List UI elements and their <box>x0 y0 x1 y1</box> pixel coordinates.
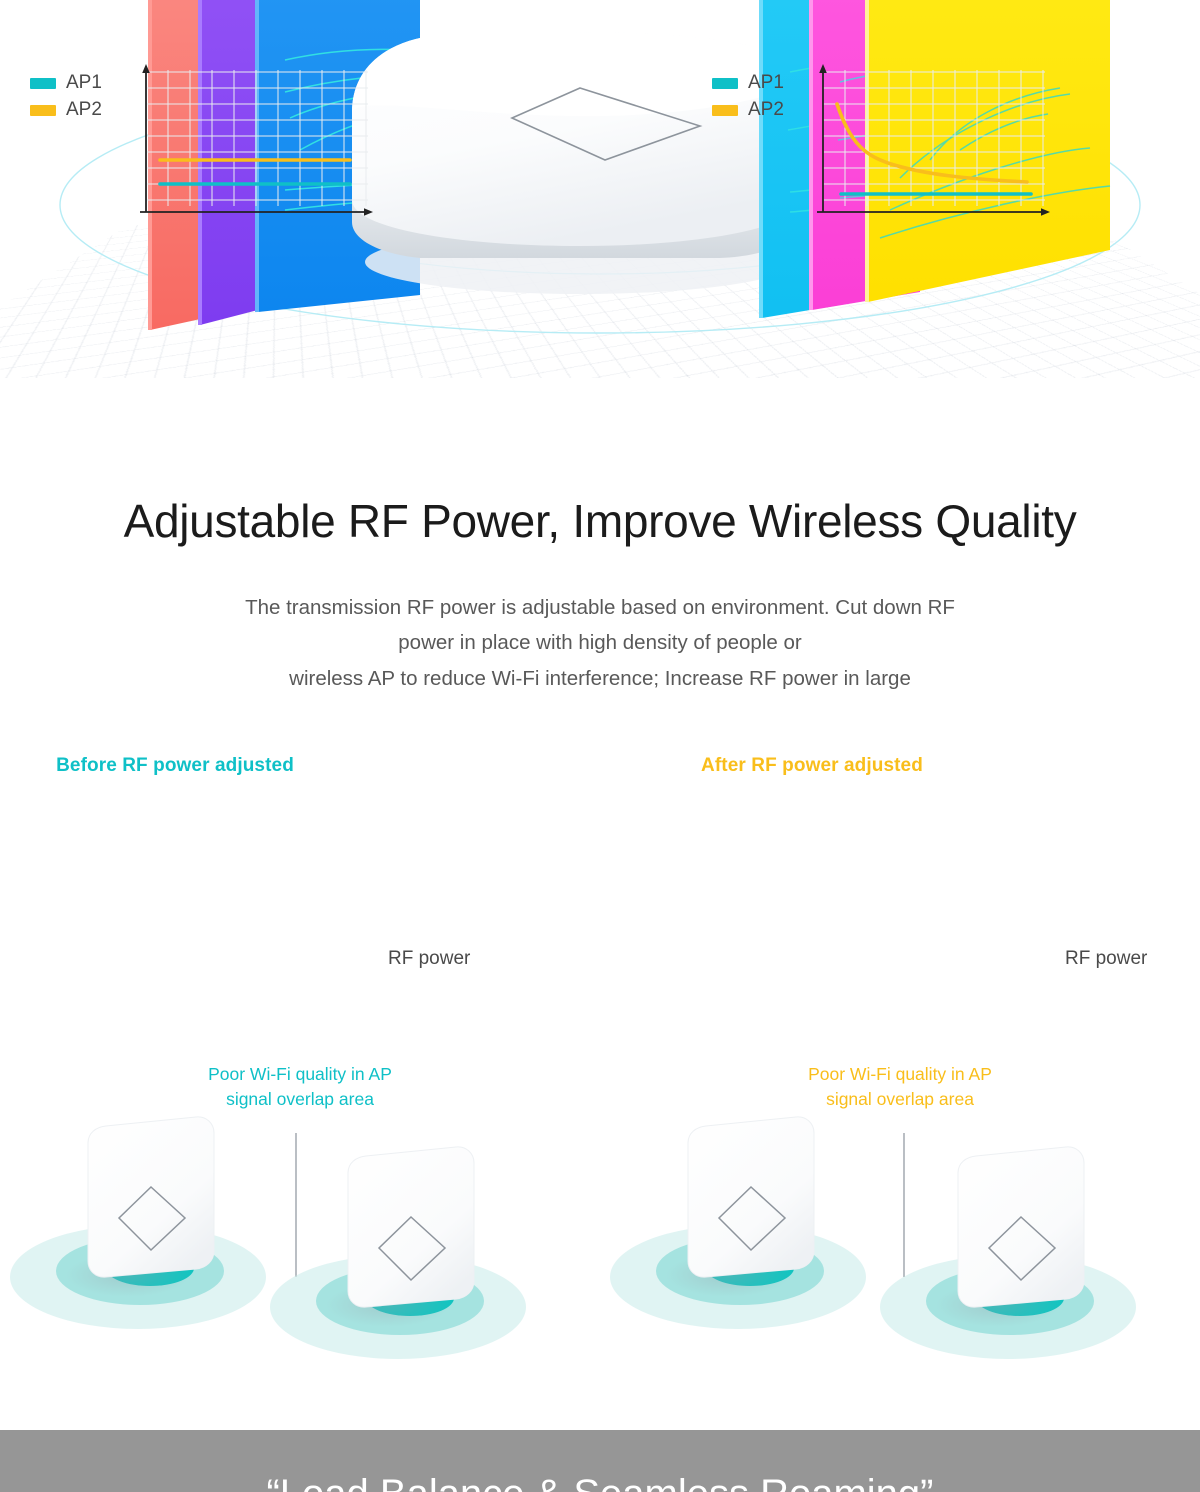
ap-diagram-after-graphic <box>600 1105 1200 1380</box>
legend-label-ap2: AP2 <box>748 99 784 121</box>
footer-banner: “Load Balance & Seamless Roaming” <box>0 1430 1200 1492</box>
ap-diagram-after: Poor Wi-Fi quality in AP signal overlap … <box>600 1050 1200 1380</box>
description-line-3: wireless AP to reduce Wi-Fi interference… <box>150 661 1050 696</box>
ap-diagram-before-graphic <box>0 1105 600 1380</box>
legend-swatch-ap1 <box>30 78 56 89</box>
ap-device <box>610 1117 866 1329</box>
product-feature-page: Adjustable RF Power, Improve Wireless Qu… <box>0 0 1200 1492</box>
ap-device <box>10 1117 266 1329</box>
chart-after-legend: AP1 AP2 <box>712 72 784 126</box>
ap-caption-line-1: Poor Wi-Fi quality in AP <box>690 1062 1110 1087</box>
legend-item-ap2: AP2 <box>30 99 102 121</box>
description-line-2: power in place with high density of peop… <box>150 625 1050 660</box>
legend-item-ap1: AP1 <box>30 72 102 94</box>
ap-device <box>880 1147 1136 1359</box>
page-description: The transmission RF power is adjustable … <box>150 590 1050 696</box>
description-line-1: The transmission RF power is adjustable … <box>150 590 1050 625</box>
ap-caption-line-1: Poor Wi-Fi quality in AP <box>90 1062 510 1087</box>
legend-swatch-ap2 <box>712 105 738 116</box>
chart-after-x-axis-label: RF power <box>1065 948 1147 970</box>
chart-before-title: Before RF power adjusted <box>0 755 475 777</box>
chart-before-block: Before RF power adjusted <box>0 755 600 995</box>
chart-before-legend: AP1 AP2 <box>30 72 102 126</box>
footer-banner-title: “Load Balance & Seamless Roaming” <box>0 1472 1200 1492</box>
chart-after-title: After RF power adjusted <box>512 755 1112 777</box>
legend-label-ap1: AP1 <box>748 72 784 94</box>
legend-swatch-ap2 <box>30 105 56 116</box>
chart-before-x-axis-label: RF power <box>388 948 470 970</box>
ap-diagram-before: Poor Wi-Fi quality in AP signal overlap … <box>0 1050 600 1380</box>
chart-before-plot <box>128 60 378 220</box>
chart-after-plot <box>805 60 1055 220</box>
page-title: Adjustable RF Power, Improve Wireless Qu… <box>0 495 1200 548</box>
legend-swatch-ap1 <box>712 78 738 89</box>
ap-device <box>270 1147 526 1359</box>
legend-label-ap1: AP1 <box>66 72 102 94</box>
legend-label-ap2: AP2 <box>66 99 102 121</box>
legend-item-ap2: AP2 <box>712 99 784 121</box>
legend-item-ap1: AP1 <box>712 72 784 94</box>
